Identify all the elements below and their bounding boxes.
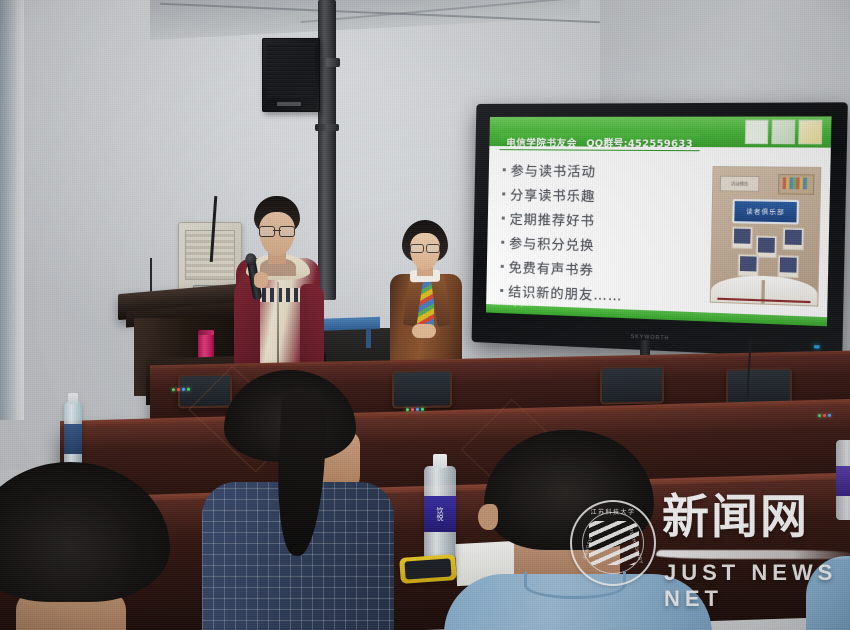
phone-yellow-case bbox=[399, 554, 457, 584]
slide-thumbnail-1-icon bbox=[745, 120, 769, 144]
slide-thumbnail-2-icon bbox=[771, 120, 795, 145]
presenter-with-microphone bbox=[232, 196, 324, 386]
wall-speaker-icon bbox=[262, 38, 320, 112]
bullet-dot-icon bbox=[503, 169, 506, 172]
photo-card bbox=[732, 227, 753, 250]
slide-thumbnail-3-icon bbox=[798, 120, 822, 145]
slide-body: 参与读书活动 分享读书乐趣 定期推荐好书 参与积分兑换 bbox=[486, 146, 831, 312]
photo-board-sign: 读者俱乐部 bbox=[732, 199, 799, 225]
slide-thumbnail-row bbox=[745, 120, 823, 145]
desk-led-indicator bbox=[818, 414, 831, 417]
bottle-label bbox=[836, 466, 850, 496]
audience-right-ear bbox=[478, 504, 498, 530]
display-power-led-icon bbox=[814, 345, 820, 348]
bullet-text: 分享读书乐趣 bbox=[510, 185, 596, 206]
bullet-text: 免费有声书券 bbox=[509, 257, 595, 279]
presenter-left-hand bbox=[254, 272, 268, 288]
eyeglasses-icon bbox=[410, 244, 440, 251]
pipe-band-lower bbox=[315, 124, 339, 131]
presenter-standing bbox=[388, 220, 464, 380]
audience-right-hair bbox=[484, 430, 654, 550]
speaker-badge bbox=[277, 102, 301, 106]
slide-header-bar: 电信学院书友会 QQ群号:452559633 bbox=[489, 116, 831, 148]
desk-led-indicator bbox=[172, 388, 190, 392]
presentation-display[interactable]: 电信学院书友会 QQ群号:452559633 参与读书活动 分享读书乐趣 bbox=[472, 102, 848, 359]
bullet-dot-icon bbox=[502, 217, 505, 220]
bottle-label: 饮悦 bbox=[424, 496, 456, 532]
slide: 电信学院书友会 QQ群号:452559633 参与读书活动 分享读书乐趣 bbox=[486, 116, 832, 326]
photo-card bbox=[738, 254, 759, 277]
photo-bookshelf-icon bbox=[778, 174, 814, 195]
chair bbox=[600, 365, 664, 404]
slide-photo: 活动预告 读者俱乐部 bbox=[710, 166, 822, 307]
bench-leg bbox=[366, 328, 371, 348]
desk-led-indicator bbox=[406, 408, 424, 412]
photo-card bbox=[777, 255, 799, 278]
display-screen: 电信学院书友会 QQ群号:452559633 参与读书活动 分享读书乐趣 bbox=[486, 116, 832, 326]
bullet-text: 参与读书活动 bbox=[511, 161, 597, 181]
bullet-dot-icon bbox=[501, 265, 504, 268]
list-item: 参与读书活动 bbox=[503, 161, 707, 183]
water-bottle-left bbox=[64, 402, 82, 468]
list-item: 参与积分兑换 bbox=[501, 233, 705, 258]
wall-edge-strip bbox=[0, 0, 16, 420]
list-item: 定期推荐好书 bbox=[502, 209, 706, 233]
bottle-label bbox=[64, 424, 82, 454]
photo-card bbox=[782, 228, 804, 251]
photo-notice-sign: 活动预告 bbox=[720, 176, 760, 192]
slide-bullet-list: 参与读书活动 分享读书乐趣 定期推荐好书 参与积分兑换 bbox=[500, 156, 706, 307]
audience-left-hair bbox=[0, 462, 170, 602]
speaker-grille bbox=[267, 43, 315, 99]
audience-right-collar bbox=[524, 572, 626, 599]
bullet-dot-icon bbox=[501, 241, 504, 244]
eyeglasses-icon bbox=[259, 226, 295, 235]
water-bottle-center: 饮悦 bbox=[424, 466, 456, 562]
photograph: 电信学院书友会 QQ群号:452559633 参与读书活动 分享读书乐趣 bbox=[0, 0, 850, 630]
list-item: 免费有声书券 bbox=[501, 257, 704, 283]
bullet-dot-icon bbox=[500, 289, 503, 292]
chair bbox=[392, 369, 452, 408]
slide-footer-url: www.kmmaigling.com bbox=[492, 302, 532, 308]
wall-edge-strip-inner bbox=[16, 0, 24, 420]
audience-center bbox=[196, 370, 396, 630]
water-bottle-right bbox=[836, 440, 850, 520]
bullet-text: 参与积分兑换 bbox=[509, 233, 595, 254]
list-item: 分享读书乐趣 bbox=[502, 185, 706, 208]
audience-left bbox=[0, 462, 170, 630]
bullet-dot-icon bbox=[502, 193, 505, 196]
bullet-text: 定期推荐好书 bbox=[510, 209, 596, 230]
presenter-right-hands bbox=[412, 324, 436, 338]
audience-right bbox=[462, 430, 712, 630]
